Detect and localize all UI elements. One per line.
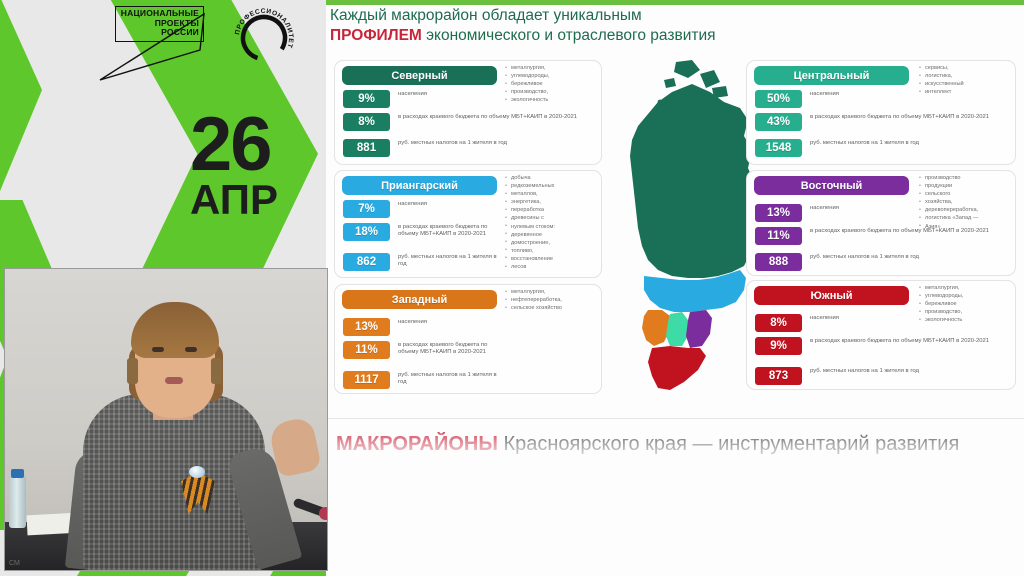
video-water-bottle xyxy=(9,474,26,528)
bullet: сервисы, xyxy=(919,65,1013,73)
stat-label: руб. местных налогов на 1 жителя в год xyxy=(398,139,507,147)
video-speaker-eye-left xyxy=(152,347,164,352)
card-centralny[interactable]: Центральный сервисы, логистика, искусств… xyxy=(746,60,1016,165)
stat-label: руб. местных налогов на 1 жителя в год xyxy=(810,139,919,147)
stat-budget: 11% в расходах краевого бюджета по объем… xyxy=(755,227,1005,245)
bullet: металлургия, xyxy=(505,65,601,73)
bullet: деревопереработка, xyxy=(919,207,1013,215)
map-region-severny xyxy=(630,84,756,278)
stat-label: руб. местных налогов на 1 жителя в год xyxy=(810,253,919,261)
card-yuzhny-bullets: металлургия, углеводороды, бережливое пр… xyxy=(919,285,1013,325)
bullet: нулевым стоком: xyxy=(505,224,601,232)
bullet: лесов xyxy=(505,264,601,272)
bullet: переработка xyxy=(505,207,601,215)
card-priangarsky-bullets: добыча редкоземельных металлов, энергети… xyxy=(505,175,601,272)
card-priangarsky[interactable]: Приангарский добыча редкоземельных метал… xyxy=(334,170,602,278)
bullet: деревянное xyxy=(505,232,601,240)
stat-budget: 8% в расходах краевого бюджета по объему… xyxy=(343,113,593,131)
bullet: бережливое xyxy=(505,81,601,89)
stat-label: населения xyxy=(810,314,839,322)
card-severny-bullets: металлургия, углеводороды, бережливое пр… xyxy=(505,65,601,105)
stat-population: 7% населения xyxy=(343,200,503,218)
stat-population: 13% населения xyxy=(755,204,915,222)
stat-value: 873 xyxy=(755,367,802,385)
card-severny-header: Северный xyxy=(342,66,497,85)
video-speaker-eye-right xyxy=(185,347,197,352)
video-speaker-earring-left xyxy=(127,358,138,384)
stat-label: населения xyxy=(810,90,839,98)
card-zapadny[interactable]: Западный металлургия, нефтепереработка, … xyxy=(334,284,602,394)
bullet: интеллект xyxy=(919,89,1013,97)
stat-value: 13% xyxy=(755,204,802,222)
stat-label: в расходах краевого бюджета по объему МБ… xyxy=(810,113,989,121)
stat-value: 9% xyxy=(755,337,802,355)
bullet: домостроение, xyxy=(505,240,601,248)
card-yuzhny[interactable]: Южный металлургия, углеводороды, бережли… xyxy=(746,280,1016,390)
bullet: углеводороды, xyxy=(505,73,601,81)
bullet: металлургия, xyxy=(919,285,1013,293)
card-zapadny-title: Западный xyxy=(392,294,448,306)
stat-label: населения xyxy=(398,90,427,98)
card-zapadny-header: Западный xyxy=(342,290,497,309)
chevron-decor-1 xyxy=(0,0,42,220)
stat-value: 50% xyxy=(755,90,802,108)
stat-taxes: 1117 руб. местных налогов на 1 жителя в … xyxy=(343,371,503,389)
bullet: восстановление xyxy=(505,256,601,264)
slide-accent-bar xyxy=(326,0,1024,5)
stat-budget: 18% в расходах краевого бюджета по объем… xyxy=(343,223,503,241)
stat-value: 881 xyxy=(343,139,390,157)
video-speaker-earring-right xyxy=(211,358,222,384)
bullet: энергетика, xyxy=(505,199,601,207)
date-day: 26 xyxy=(190,112,278,178)
card-zapadny-bullets: металлургия, нефтепереработка, сельское … xyxy=(505,289,601,313)
card-severny[interactable]: Северный металлургия, углеводороды, бере… xyxy=(334,60,602,165)
stat-value: 7% xyxy=(343,200,390,218)
bullet: экологичность xyxy=(919,317,1013,325)
stat-population: 8% населения xyxy=(755,314,915,332)
slide-title: Каждый макрорайон обладает уникальным ПР… xyxy=(330,6,1020,46)
bullet: древесины с xyxy=(505,215,601,223)
card-centralny-bullets: сервисы, логистика, искусственный интелл… xyxy=(919,65,1013,97)
bullet: хозяйства, xyxy=(919,199,1013,207)
stat-value: 8% xyxy=(343,113,390,131)
stat-value: 43% xyxy=(755,113,802,131)
card-severny-title: Северный xyxy=(391,70,447,82)
card-vostochny-header: Восточный xyxy=(754,176,909,195)
slide-title-highlight: ПРОФИЛЕМ xyxy=(330,27,422,44)
video-speaker-brooch xyxy=(189,466,205,478)
stat-label: в расходах краевого бюджета по объему МБ… xyxy=(810,227,989,235)
map-region-yuzhny xyxy=(648,346,706,390)
stat-value: 18% xyxy=(343,223,390,241)
bullet: логистика, xyxy=(919,73,1013,81)
presentation-slide: Каждый макрорайон обладает уникальным ПР… xyxy=(326,0,1024,576)
stat-label: населения xyxy=(810,204,839,212)
stat-budget: 43% в расходах краевого бюджета по объем… xyxy=(755,113,1005,131)
stat-budget: 11% в расходах краевого бюджета по объем… xyxy=(343,341,503,359)
stat-population: 13% населения xyxy=(343,318,503,336)
stat-population: 9% населения xyxy=(343,90,503,108)
microphone-head-icon xyxy=(319,507,328,520)
stat-taxes: 888 руб. местных налогов на 1 жителя в г… xyxy=(755,253,1005,271)
stat-value: 8% xyxy=(755,314,802,332)
stat-label: руб. местных налогов на 1 жителя в год xyxy=(810,367,919,375)
video-speaker-mouth xyxy=(165,377,183,384)
stat-taxes: 873 руб. местных налогов на 1 жителя в г… xyxy=(755,367,1005,385)
speaker-video-feed[interactable]: CM xyxy=(4,268,328,571)
stat-taxes: 1548 руб. местных налогов на 1 жителя в … xyxy=(755,139,1005,157)
bullet: бережливое xyxy=(919,301,1013,309)
slide-title-line-2: экономического и отраслевого развития xyxy=(422,27,716,44)
stat-value: 11% xyxy=(343,341,390,359)
stat-value: 888 xyxy=(755,253,802,271)
date-month: АПР xyxy=(190,178,278,222)
national-projects-logo: НАЦИОНАЛЬНЫЕ ПРОЕКТЫ РОССИИ xyxy=(96,6,204,48)
stat-value: 862 xyxy=(343,253,390,271)
footer-text: Красноярского края — инструментарий разв… xyxy=(498,433,959,455)
stat-value: 13% xyxy=(343,318,390,336)
slide-divider xyxy=(326,418,1024,419)
bullet: добыча xyxy=(505,175,601,183)
map-region-centralny xyxy=(666,312,688,346)
stat-value: 1548 xyxy=(755,139,802,157)
bullet: сельского xyxy=(919,191,1013,199)
map-region-vostochny xyxy=(686,310,712,348)
bullet: производство xyxy=(919,175,1013,183)
bullet: металлургия, xyxy=(505,289,601,297)
card-priangarsky-header: Приангарский xyxy=(342,176,497,195)
bullet: редкоземельных xyxy=(505,183,601,191)
stat-population: 50% населения xyxy=(755,90,915,108)
stat-label: в расходах краевого бюджета по объему МБ… xyxy=(398,341,503,357)
logo-line-3: РОССИИ xyxy=(121,28,199,38)
stat-label: руб. местных налогов на 1 жителя в год xyxy=(398,253,503,269)
stat-label: в расходах краевого бюджета по объему МБ… xyxy=(810,337,989,345)
bullet: производство, xyxy=(919,309,1013,317)
stat-label: в расходах краевого бюджета по объему МБ… xyxy=(398,113,577,121)
card-yuzhny-title: Южный xyxy=(810,290,852,302)
stat-budget: 9% в расходах краевого бюджета по объему… xyxy=(755,337,1005,355)
stat-value: 11% xyxy=(755,227,802,245)
stat-label: населения xyxy=(398,200,427,208)
stat-value: 9% xyxy=(343,90,390,108)
map-region-zapadny xyxy=(642,310,670,346)
card-priangarsky-title: Приангарский xyxy=(381,180,458,192)
bullet: логистика «Запад — xyxy=(919,215,1013,223)
professionalitet-badge-icon: ПРОФЕССИОНАЛИТЕТ xyxy=(228,2,300,74)
slide-footer: МАКРОРАЙОНЫ Красноярского края — инструм… xyxy=(336,432,1024,456)
card-vostochny-title: Восточный xyxy=(801,180,863,192)
bullet: экологичность xyxy=(505,97,601,105)
bullet: производство, xyxy=(505,89,601,97)
video-bottle-cap xyxy=(11,469,24,478)
card-vostochny-bullets: производство продукции сельского хозяйст… xyxy=(919,175,1013,232)
video-watermark: CM xyxy=(9,560,20,567)
bullet: искусственный xyxy=(919,81,1013,89)
stat-value: 1117 xyxy=(343,371,390,389)
bullet: продукции xyxy=(919,183,1013,191)
footer-highlight: МАКРОРАЙОНЫ xyxy=(336,433,498,455)
bullet: сельское хозяйство xyxy=(505,305,601,313)
stat-taxes: 881 руб. местных налогов на 1 жителя в г… xyxy=(343,139,593,157)
stat-label: руб. местных налогов на 1 жителя в год xyxy=(398,371,503,387)
card-centralny-title: Центральный xyxy=(794,70,870,82)
bullet: топливо, xyxy=(505,248,601,256)
bullet: металлов, xyxy=(505,191,601,199)
card-centralny-header: Центральный xyxy=(754,66,909,85)
stat-taxes: 862 руб. местных налогов на 1 жителя в г… xyxy=(343,253,503,271)
event-date: 26 АПР xyxy=(190,112,278,222)
card-vostochny[interactable]: Восточный производство продукции сельско… xyxy=(746,170,1016,276)
stat-label: в расходах краевого бюджета по объему МБ… xyxy=(398,223,503,239)
stat-label: населения xyxy=(398,318,427,326)
card-yuzhny-header: Южный xyxy=(754,286,909,305)
bullet: нефтепереработка, xyxy=(505,297,601,305)
slide-title-line-1: Каждый макрорайон обладает уникальным xyxy=(330,7,642,24)
bullet: углеводороды, xyxy=(919,293,1013,301)
